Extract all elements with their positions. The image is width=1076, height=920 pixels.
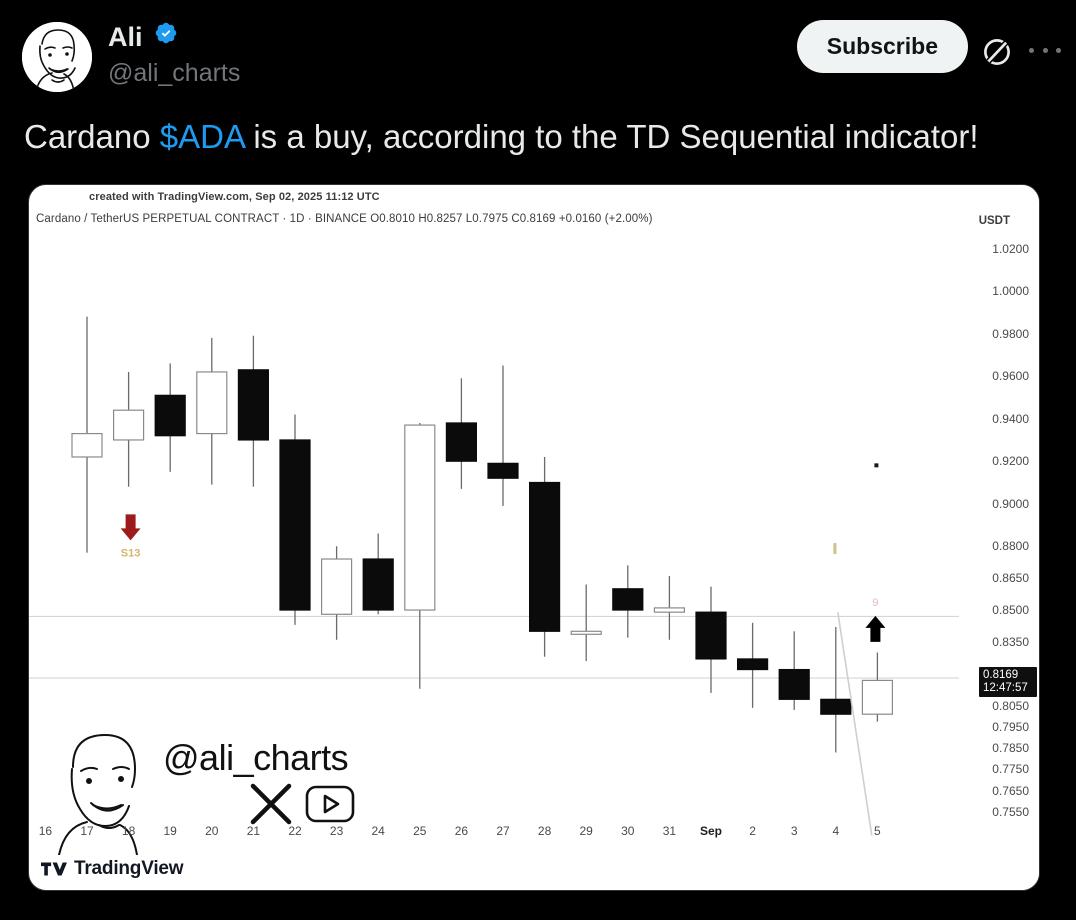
tradingview-brand: TradingView (74, 858, 183, 880)
price-axis-tick: 0.8350 (992, 635, 1029, 649)
price-axis-tick: 0.9000 (992, 497, 1029, 511)
tradingview-logo-icon (41, 860, 67, 878)
time-axis-tick: Sep (700, 824, 722, 838)
price-axis-tick: 0.7650 (992, 784, 1029, 798)
current-price-tag: 0.8169 12:47:57 (979, 667, 1037, 697)
price-axis-tick: 0.9200 (992, 454, 1029, 468)
time-axis-tick: 20 (205, 824, 218, 838)
tweet-text-suffix: is a buy, according to the TD Sequential… (244, 118, 978, 155)
more-options-icon[interactable] (1026, 36, 1064, 64)
time-axis-tick: 16 (39, 824, 52, 838)
chart-symbol-legend: Cardano / TetherUS PERPETUAL CONTRACT · … (36, 213, 653, 225)
subscribe-button[interactable]: Subscribe (797, 20, 968, 73)
grok-icon[interactable] (980, 35, 1014, 74)
time-axis-tick: 24 (372, 824, 385, 838)
td-buy-label: 9 (872, 597, 878, 609)
chart-plot-area[interactable]: S139 (29, 229, 1040, 849)
tweet-text: Cardano $ADA is a buy, according to the … (24, 114, 1054, 160)
time-axis-tick: 2 (749, 824, 756, 838)
price-axis-tick: 0.9600 (992, 369, 1029, 383)
author-block: Ali @ali_charts (108, 20, 240, 90)
time-axis[interactable]: 141516171819202122232425262728293031Sep2… (29, 824, 1040, 848)
price-axis-tick: 0.7550 (992, 805, 1029, 819)
price-axis-title: USDT (979, 215, 1010, 227)
time-axis-tick: 25 (413, 824, 426, 838)
current-price-time: 12:47:57 (983, 682, 1033, 695)
price-axis-tick: 1.0000 (992, 284, 1029, 298)
candlestick-plot: S139 (29, 229, 1040, 849)
tweet-text-prefix: Cardano (24, 118, 160, 155)
price-axis-tick: 0.8800 (992, 539, 1029, 553)
tweet-screenshot: Ali @ali_charts Subscribe C (0, 0, 1076, 920)
display-name: Ali (108, 20, 143, 54)
current-price-value: 0.8169 (983, 669, 1033, 682)
time-axis-tick: 29 (580, 824, 593, 838)
price-axis-tick: 0.8500 (992, 603, 1029, 617)
time-axis-tick: 21 (247, 824, 260, 838)
price-axis-tick: 0.9400 (992, 412, 1029, 426)
time-axis-tick: 19 (164, 824, 177, 838)
time-axis-tick: 5 (874, 824, 881, 838)
time-axis-tick: 31 (663, 824, 676, 838)
cashtag-link[interactable]: $ADA (160, 118, 244, 155)
time-axis-tick: 27 (496, 824, 509, 838)
price-axis[interactable]: USDT 1.02001.00000.98000.96000.94000.920… (959, 185, 1039, 891)
td-sell-label: S13 (121, 547, 141, 559)
verified-badge-icon (154, 21, 178, 50)
tradingview-chart-card[interactable]: created with TradingView.com, Sep 02, 20… (28, 184, 1040, 891)
price-axis-tick: 0.9800 (992, 327, 1029, 341)
time-axis-tick: 17 (80, 824, 93, 838)
author-handle[interactable]: @ali_charts (108, 56, 240, 90)
price-axis-tick: 0.8650 (992, 571, 1029, 585)
time-axis-tick: 18 (122, 824, 135, 838)
avatar[interactable] (22, 22, 92, 92)
price-axis-tick: 0.7850 (992, 741, 1029, 755)
tweet-header: Ali @ali_charts Subscribe (0, 0, 1076, 110)
tradingview-logo-bar[interactable]: TradingView (29, 848, 1040, 890)
price-axis-tick: 0.7750 (992, 762, 1029, 776)
time-axis-tick: 30 (621, 824, 634, 838)
td-sell-arrow-icon (121, 514, 141, 540)
td-buy-arrow-icon (865, 616, 885, 642)
time-axis-tick: 26 (455, 824, 468, 838)
time-axis-tick: 22 (288, 824, 301, 838)
time-axis-tick: 23 (330, 824, 343, 838)
price-axis-tick: 0.8050 (992, 699, 1029, 713)
chart-credit: created with TradingView.com, Sep 02, 20… (89, 191, 380, 203)
time-axis-tick: 4 (832, 824, 839, 838)
price-axis-tick: 0.7950 (992, 720, 1029, 734)
price-axis-tick: 1.0200 (992, 242, 1029, 256)
time-axis-tick: 28 (538, 824, 551, 838)
time-axis-tick: 3 (791, 824, 798, 838)
